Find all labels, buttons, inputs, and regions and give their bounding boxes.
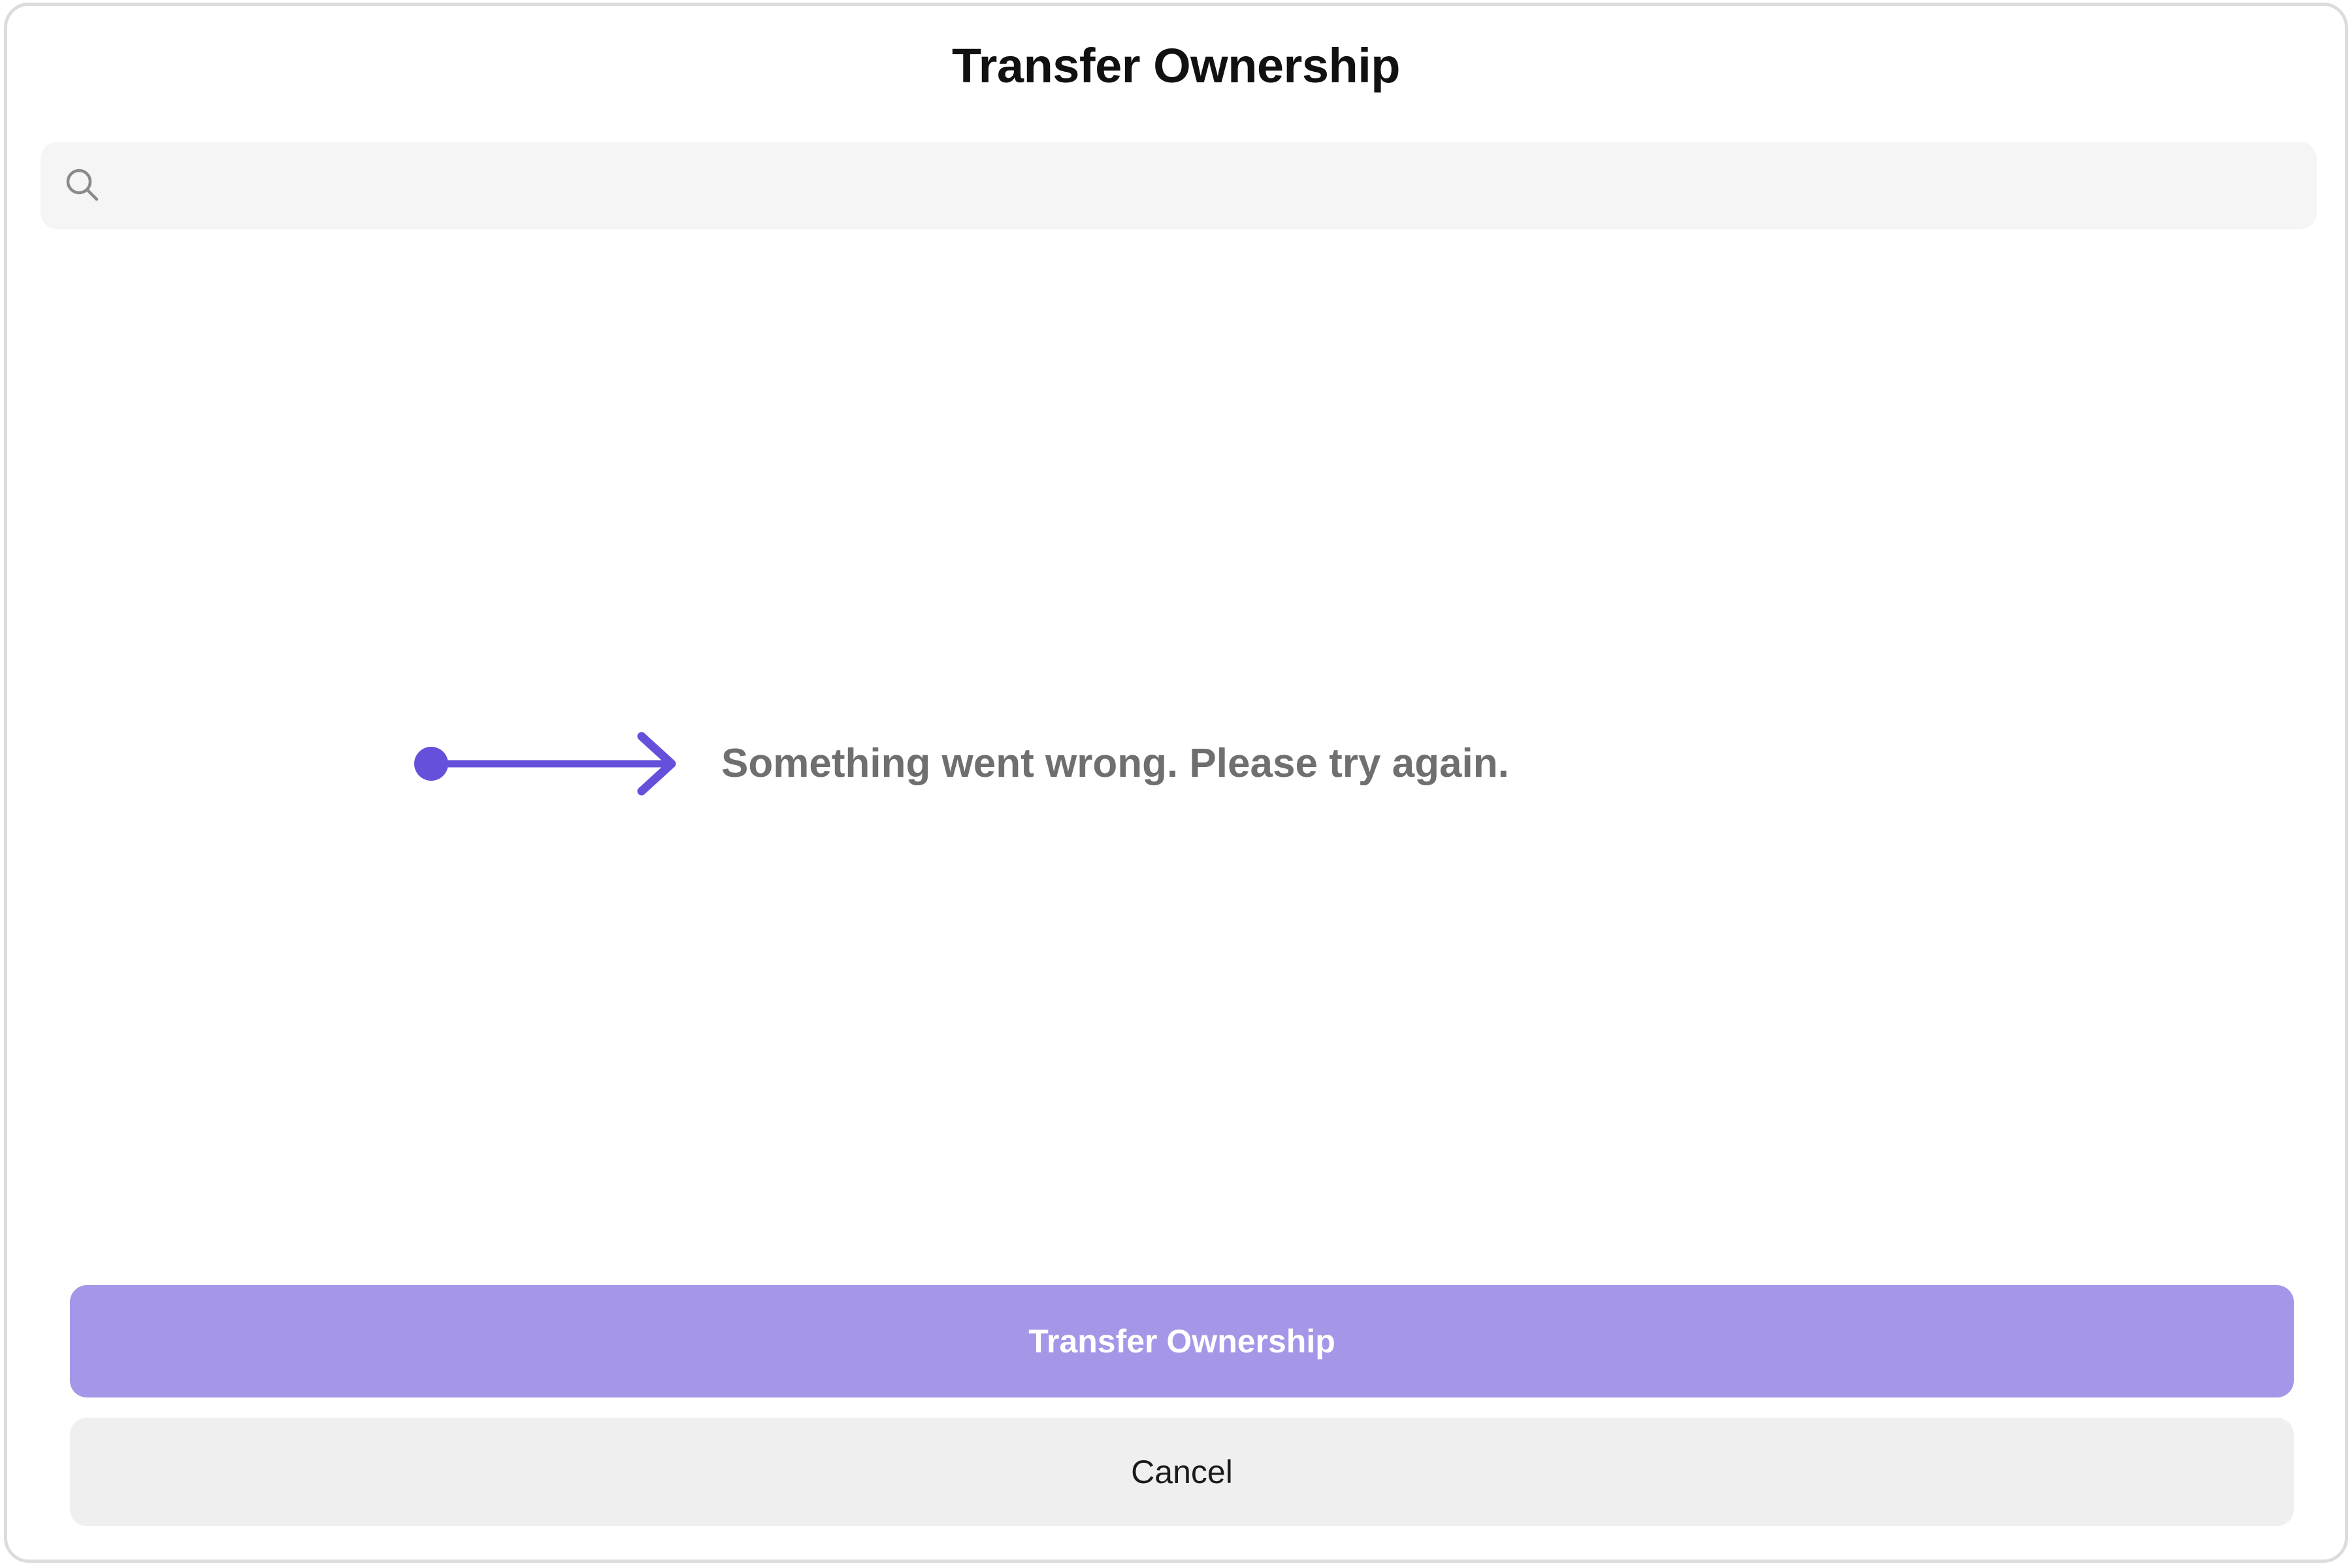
search-field[interactable] bbox=[41, 142, 2317, 229]
page-title: Transfer Ownership bbox=[7, 42, 2345, 90]
transfer-ownership-dialog: Transfer Ownership Something went wrong.… bbox=[4, 3, 2348, 1563]
results-area: Something went wrong. Please try again. bbox=[41, 241, 2317, 1260]
transfer-ownership-button[interactable]: Transfer Ownership bbox=[70, 1285, 2294, 1397]
search-icon bbox=[61, 165, 103, 206]
search-input[interactable] bbox=[103, 142, 2317, 229]
arrow-right-indicator-icon bbox=[413, 725, 700, 803]
status-message-row: Something went wrong. Please try again. bbox=[413, 725, 1509, 803]
error-message: Something went wrong. Please try again. bbox=[721, 743, 1509, 784]
cancel-button[interactable]: Cancel bbox=[70, 1418, 2294, 1526]
